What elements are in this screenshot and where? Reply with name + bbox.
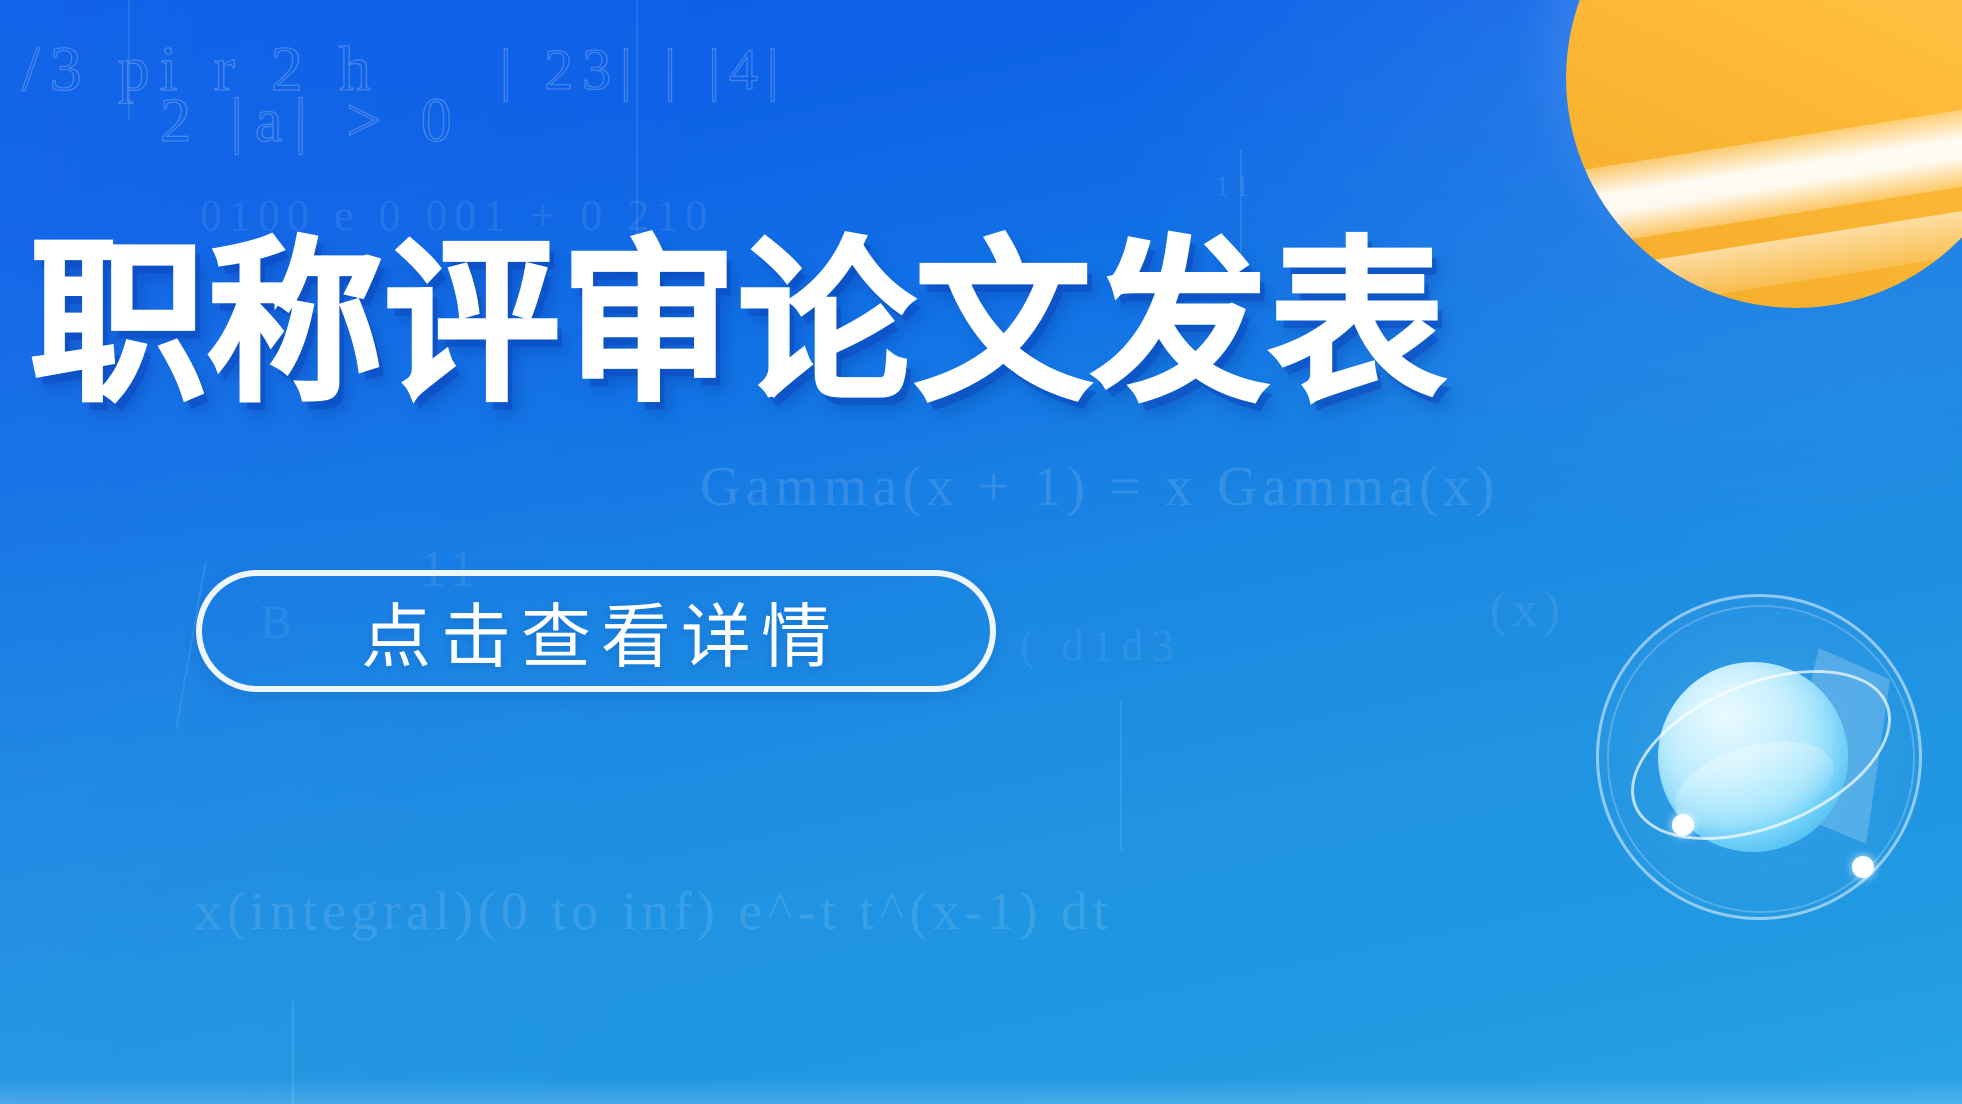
electron-dot-icon [1672,814,1694,836]
hairline-accent [636,0,638,250]
page-title: 职称评审论文发表 [30,236,1370,412]
planet-band-secondary [1566,188,1962,308]
atom-inner-ring [1607,605,1915,913]
electron-dot-icon [1852,856,1874,878]
math-watermark-line-8: x(integral)(0 to inf) e^-t t^(x-1) dt [195,880,1113,942]
math-watermark-line-10: (x) [1490,580,1566,638]
math-watermark-line-5: 11 [1215,170,1256,204]
planet-band [1566,87,1962,256]
view-details-button-label: 点击查看详情 [351,581,841,682]
math-watermark-line-6: Gamma(x + 1) = x Gamma(x) [700,455,1499,519]
planet-base [1566,0,1962,308]
hairline-accent [292,1000,294,1104]
view-details-button[interactable]: 点击查看详情 [196,570,996,692]
planet-glow [1508,0,1948,290]
bottom-light-strip [0,1078,1962,1104]
background-sheen-left [0,0,1266,1104]
math-watermark-line-7: ( d1d3 [1020,620,1182,671]
atom-orbit-icon [1596,594,1922,920]
hairline-accent [128,0,130,120]
atom-outer-ring [1596,594,1922,920]
atom-core-sphere [1658,662,1848,852]
math-watermark-line-1: /3 pi r 2 h [22,32,381,106]
orange-planet-icon [1566,0,1962,308]
atom-wedge-shape [1782,648,1890,844]
promo-banner: /3 pi r 2 h 2 |a| > 0 | 23| | |4| 0100 e… [0,0,1962,1104]
atom-orbit-path [1607,636,1916,874]
planet-body [1566,0,1962,308]
math-watermark-line-3: | 23| | |4| [500,36,788,103]
hairline-accent [1120,700,1122,850]
math-watermark-line-2: 2 |a| > 0 [160,86,464,157]
